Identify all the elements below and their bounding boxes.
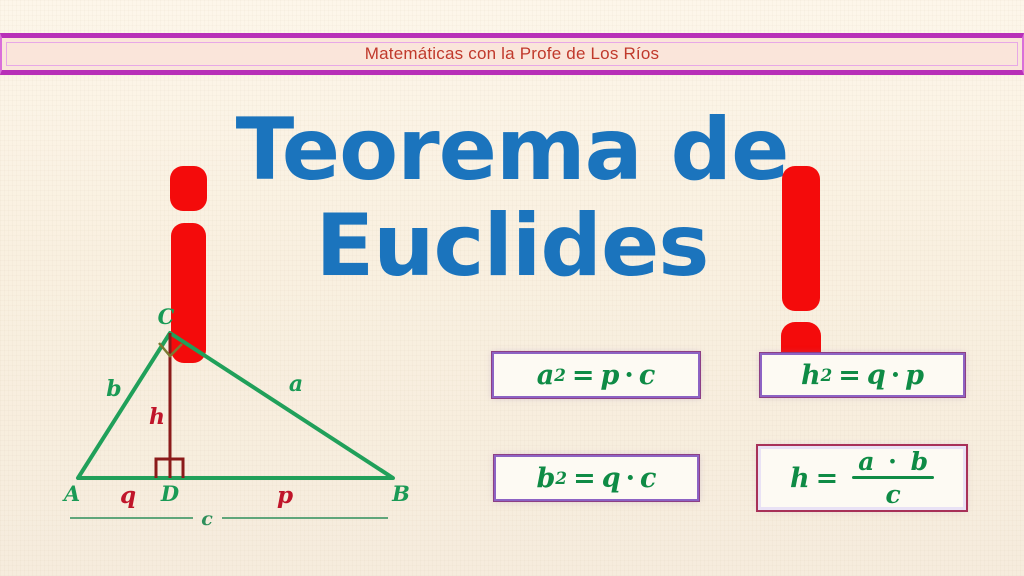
- multiply-dot-icon: ·: [891, 360, 900, 391]
- formula-exponent: 2: [554, 365, 566, 385]
- formula-lhs: b: [537, 463, 556, 494]
- banner-title-text: Matemáticas con la Profe de Los Ríos: [365, 44, 659, 64]
- formula-text-h-fraction: h = a · b c: [790, 449, 934, 507]
- formula-lhs: h: [790, 463, 810, 494]
- formula-text-b-squared: b2 = q · c: [537, 463, 657, 494]
- formula-box-h-squared: h2 = q · p: [760, 353, 965, 397]
- formula-box-h-fraction: h = a · b c: [758, 446, 966, 510]
- formula-exponent: 2: [821, 365, 833, 385]
- multiply-dot-icon: ·: [888, 447, 897, 476]
- formula-text-a-squared: a2 = p · c: [537, 360, 656, 391]
- vertex-label-B: B: [391, 481, 410, 506]
- formula-box-a-squared: a2 = p · c: [492, 352, 700, 398]
- multiply-dot-icon: ·: [626, 463, 635, 494]
- formula-text-h-squared: h2 = q · p: [801, 360, 924, 391]
- formula-rhs-right: c: [640, 463, 656, 494]
- segment-label-p: p: [277, 482, 293, 509]
- formula-rhs-left: p: [601, 360, 620, 391]
- vertex-label-D: D: [160, 481, 180, 506]
- segment-label-h: h: [149, 404, 165, 430]
- numerator-right: b: [911, 447, 928, 476]
- title-line-2: Euclides: [0, 196, 1024, 296]
- triangle-diagram: C A B D b a h q p c: [0, 296, 450, 551]
- vertex-label-A: A: [62, 481, 80, 506]
- formula-exponent: 2: [555, 468, 567, 488]
- fraction: a · b c: [852, 449, 934, 507]
- numerator-left: a: [858, 447, 874, 476]
- formula-rhs-right: p: [905, 360, 924, 391]
- formula-rhs-left: q: [602, 463, 621, 494]
- segment-label-q: q: [120, 482, 136, 509]
- exclamation-bar: [782, 166, 820, 311]
- equals-sign: =: [573, 463, 596, 494]
- page-title: Teorema de Euclides: [0, 78, 1024, 293]
- equals-sign: =: [816, 463, 839, 494]
- fraction-denominator: c: [880, 479, 907, 507]
- title-line-1: Teorema de: [0, 100, 1024, 200]
- formula-lhs: a: [537, 360, 555, 391]
- side-label-b: b: [106, 376, 121, 402]
- formula-lhs: h: [801, 360, 821, 391]
- triangle-shape: [78, 333, 393, 478]
- vertex-label-C: C: [158, 304, 175, 329]
- formula-rhs-right: c: [639, 360, 655, 391]
- formula-box-b-squared: b2 = q · c: [494, 455, 699, 501]
- equals-sign: =: [572, 360, 595, 391]
- side-label-a: a: [289, 371, 303, 397]
- segment-label-c: c: [201, 508, 213, 530]
- formula-rhs-left: q: [867, 360, 886, 391]
- equals-sign: =: [838, 360, 861, 391]
- fraction-numerator: a · b: [852, 449, 934, 476]
- exclamation-icon: [777, 166, 825, 366]
- multiply-dot-icon: ·: [624, 360, 633, 391]
- channel-banner: Matemáticas con la Profe de Los Ríos: [0, 33, 1024, 75]
